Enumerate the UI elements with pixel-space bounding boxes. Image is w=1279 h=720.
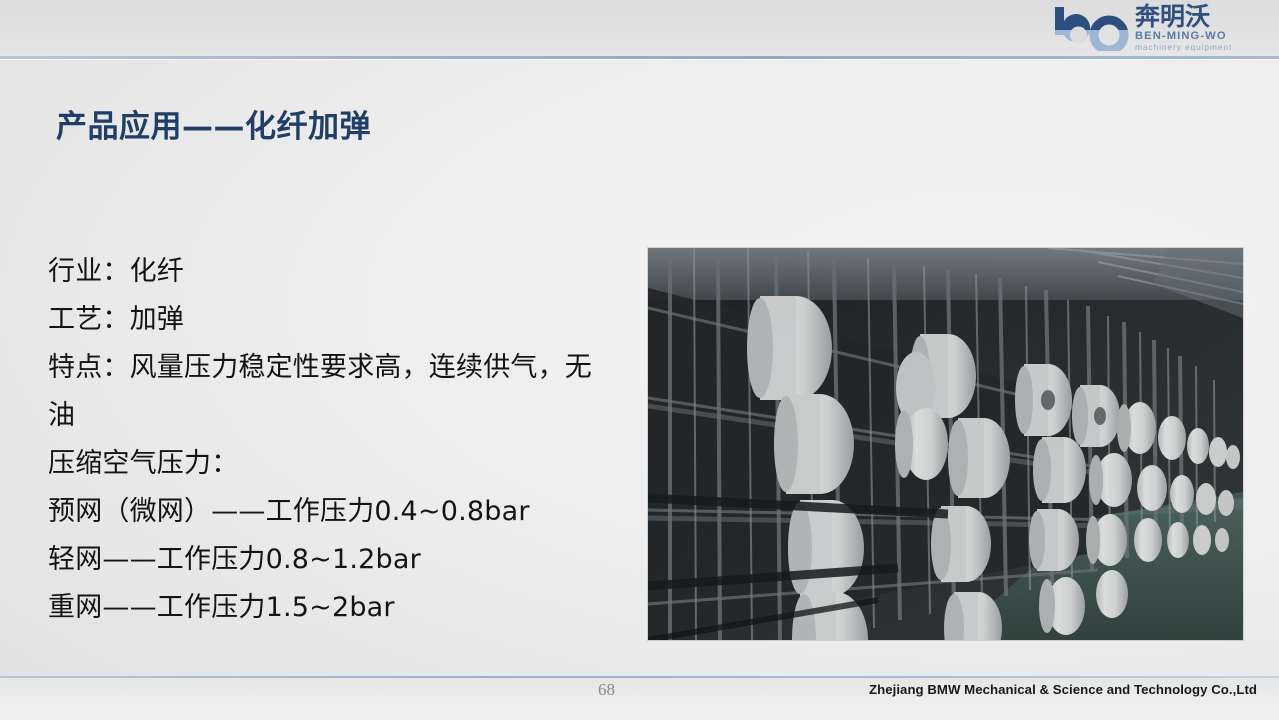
- page-number: 68: [598, 680, 615, 700]
- content-line-pressure-header: 压缩空气压力：: [48, 440, 618, 488]
- content-line-heavy-network: 重网——工作压力1.5~2bar: [48, 584, 618, 632]
- slide-canvas: 奔明沃 BEN-MING-WO machinery equipment 产品应用…: [0, 0, 1279, 720]
- page-title: 产品应用——化纤加弹: [56, 101, 371, 146]
- company-logo: 奔明沃 BEN-MING-WO machinery equipment: [1049, 2, 1267, 54]
- product-application-photo: [648, 248, 1243, 640]
- logo-chinese-name: 奔明沃: [1135, 4, 1267, 30]
- content-line-features: 特点：风量压力稳定性要求高，连续供气，无油: [48, 344, 618, 440]
- content-line-pre-network: 预网（微网）——工作压力0.4~0.8bar: [48, 488, 618, 536]
- footer-company-name: Zhejiang BMW Mechanical & Science and Te…: [869, 682, 1257, 697]
- logo-wordmark: 奔明沃 BEN-MING-WO machinery equipment: [1135, 3, 1267, 53]
- content-line-industry: 行业：化纤: [48, 248, 618, 296]
- content-line-light-network: 轻网——工作压力0.8~1.2bar: [48, 536, 618, 584]
- content-line-process: 工艺：加弹: [48, 296, 618, 344]
- content-text-block: 行业：化纤 工艺：加弹 特点：风量压力稳定性要求高，连续供气，无油 压缩空气压力…: [48, 248, 618, 632]
- bo-monogram-icon: [1049, 5, 1133, 51]
- header-divider-line: [0, 56, 1279, 59]
- logo-tagline: machinery equipment: [1135, 43, 1267, 52]
